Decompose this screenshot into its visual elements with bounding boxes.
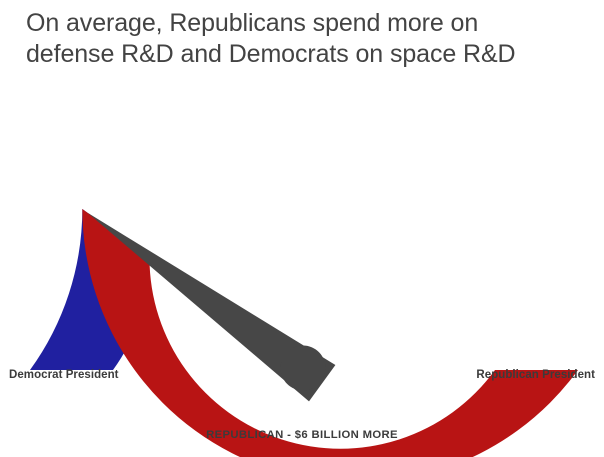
gauge-axis-label-max: Republican President xyxy=(476,369,595,381)
gauge-chart: On average, Republicans spend more on de… xyxy=(0,0,604,457)
gauge-segment-republican[interactable] xyxy=(82,209,578,457)
needle-pivot xyxy=(281,346,326,391)
gauge-graphic xyxy=(0,0,604,457)
gauge-value-footnote: REPUBLICAN - $6 BILLION MORE xyxy=(0,429,604,441)
gauge-axis-label-min: Democrat President xyxy=(9,369,119,381)
